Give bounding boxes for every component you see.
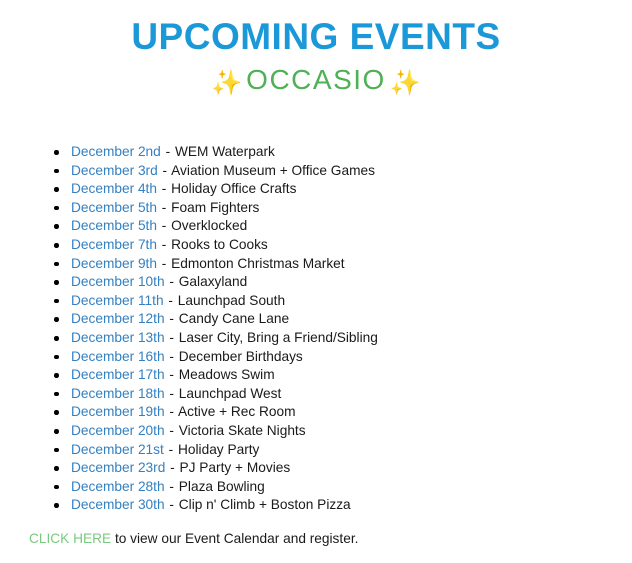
bullet-icon (54, 187, 59, 192)
bullet-icon (54, 466, 59, 471)
event-separator: - (168, 404, 175, 419)
bullet-icon (54, 392, 59, 397)
event-name: Holiday Office Crafts (171, 181, 296, 196)
event-date: December 20th (71, 423, 165, 438)
event-separator: - (168, 497, 175, 512)
bullet-icon (54, 355, 59, 360)
event-date: December 9th (71, 256, 157, 271)
list-item: December 21st - Holiday Party (0, 441, 632, 460)
event-name: Holiday Party (178, 442, 259, 457)
bullet-icon (54, 206, 59, 211)
event-name: December Birthdays (179, 349, 303, 364)
event-date: December 18th (71, 386, 165, 401)
bullet-icon (54, 150, 59, 155)
brand-name: OCCASIO (242, 64, 390, 95)
event-date: December 16th (71, 349, 165, 364)
bullet-icon (54, 317, 59, 322)
event-name: Rooks to Cooks (171, 237, 268, 252)
event-name: Launchpad South (178, 293, 285, 308)
bullet-icon (54, 485, 59, 490)
list-item: December 16th - December Birthdays (0, 348, 632, 367)
list-item: December 17th - Meadows Swim (0, 366, 632, 385)
event-separator: - (168, 367, 175, 382)
event-separator: - (168, 311, 175, 326)
event-separator: - (161, 256, 168, 271)
event-separator: - (161, 218, 168, 233)
event-separator: - (168, 423, 175, 438)
event-name: Active + Rec Room (178, 404, 296, 419)
bullet-icon (54, 169, 59, 174)
bullet-icon (54, 373, 59, 378)
event-name: Launchpad West (179, 386, 281, 401)
event-name: Overklocked (171, 218, 247, 233)
event-separator: - (167, 293, 174, 308)
event-date: December 2nd (71, 144, 161, 159)
sparkles-icon-right: ✨ (390, 69, 421, 97)
event-date: December 11th (71, 293, 164, 308)
event-name: Plaza Bowling (179, 479, 265, 494)
event-separator: - (168, 330, 175, 345)
event-name: Victoria Skate Nights (179, 423, 306, 438)
event-date: December 4th (71, 181, 157, 196)
event-date: December 3rd (71, 163, 158, 178)
event-date: December 17th (71, 367, 165, 382)
bullet-icon (54, 429, 59, 434)
event-separator: - (161, 237, 168, 252)
list-item: December 4th - Holiday Office Crafts (0, 180, 632, 199)
footer-note-text: to view our Event Calendar and register. (111, 531, 358, 546)
event-separator: - (168, 349, 175, 364)
bullet-icon (54, 336, 59, 341)
event-separator: - (169, 460, 176, 475)
list-item: December 28th - Plaza Bowling (0, 478, 632, 497)
footer-note: CLICK HERE to view our Event Calendar an… (29, 530, 358, 548)
event-name: Aviation Museum + Office Games (171, 163, 375, 178)
list-item: December 12th - Candy Cane Lane (0, 310, 632, 329)
event-date: December 13th (71, 330, 165, 345)
brand-line: ✨OCCASIO✨ (0, 66, 632, 96)
event-date: December 12th (71, 311, 165, 326)
list-item: December 2nd - WEM Waterpark (0, 143, 632, 162)
list-item: December 18th - Launchpad West (0, 385, 632, 404)
event-separator: - (168, 274, 175, 289)
list-item: December 13th - Laser City, Bring a Frie… (0, 329, 632, 348)
list-item: December 3rd - Aviation Museum + Office … (0, 162, 632, 181)
event-name: Meadows Swim (179, 367, 275, 382)
list-item: December 19th - Active + Rec Room (0, 403, 632, 422)
list-item: December 7th - Rooks to Cooks (0, 236, 632, 255)
event-separator: - (161, 200, 168, 215)
list-item: December 30th - Clip n' Climb + Boston P… (0, 496, 632, 515)
page-title: UPCOMING EVENTS (0, 18, 632, 57)
event-name: Foam Fighters (171, 200, 259, 215)
event-date: December 10th (71, 274, 165, 289)
event-name: Laser City, Bring a Friend/Sibling (179, 330, 378, 345)
event-date: December 5th (71, 218, 157, 233)
list-item: December 23rd - PJ Party + Movies (0, 459, 632, 478)
event-separator: - (162, 163, 169, 178)
event-date: December 5th (71, 200, 157, 215)
event-name: PJ Party + Movies (180, 460, 291, 475)
event-date: December 7th (71, 237, 157, 252)
page-header: UPCOMING EVENTS ✨OCCASIO✨ (0, 0, 632, 96)
bullet-icon (54, 299, 59, 304)
event-separator: - (161, 181, 168, 196)
sparkles-icon-left: ✨ (211, 69, 242, 97)
events-list: December 2nd - WEM WaterparkDecember 3rd… (0, 143, 632, 515)
bullet-icon (54, 503, 59, 508)
bullet-icon (54, 448, 59, 453)
event-separator: - (168, 479, 175, 494)
list-item: December 5th - Foam Fighters (0, 199, 632, 218)
event-name: Galaxyland (179, 274, 247, 289)
bullet-icon (54, 243, 59, 248)
event-name: Edmonton Christmas Market (171, 256, 344, 271)
bullet-icon (54, 280, 59, 285)
event-date: December 28th (71, 479, 165, 494)
bullet-icon (54, 262, 59, 267)
event-separator: - (168, 386, 175, 401)
bullet-icon (54, 410, 59, 415)
list-item: December 20th - Victoria Skate Nights (0, 422, 632, 441)
event-name: Candy Cane Lane (179, 311, 289, 326)
event-name: Clip n' Climb + Boston Pizza (179, 497, 351, 512)
bullet-icon (54, 224, 59, 229)
event-separator: - (165, 144, 172, 159)
event-date: December 19th (71, 404, 165, 419)
event-date: December 30th (71, 497, 165, 512)
event-separator: - (168, 442, 175, 457)
list-item: December 9th - Edmonton Christmas Market (0, 255, 632, 274)
event-calendar-link[interactable]: CLICK HERE (29, 531, 111, 546)
list-item: December 5th - Overklocked (0, 217, 632, 236)
event-date: December 23rd (71, 460, 165, 475)
list-item: December 10th - Galaxyland (0, 273, 632, 292)
event-date: December 21st (71, 442, 164, 457)
list-item: December 11th - Launchpad South (0, 292, 632, 311)
event-name: WEM Waterpark (175, 144, 275, 159)
